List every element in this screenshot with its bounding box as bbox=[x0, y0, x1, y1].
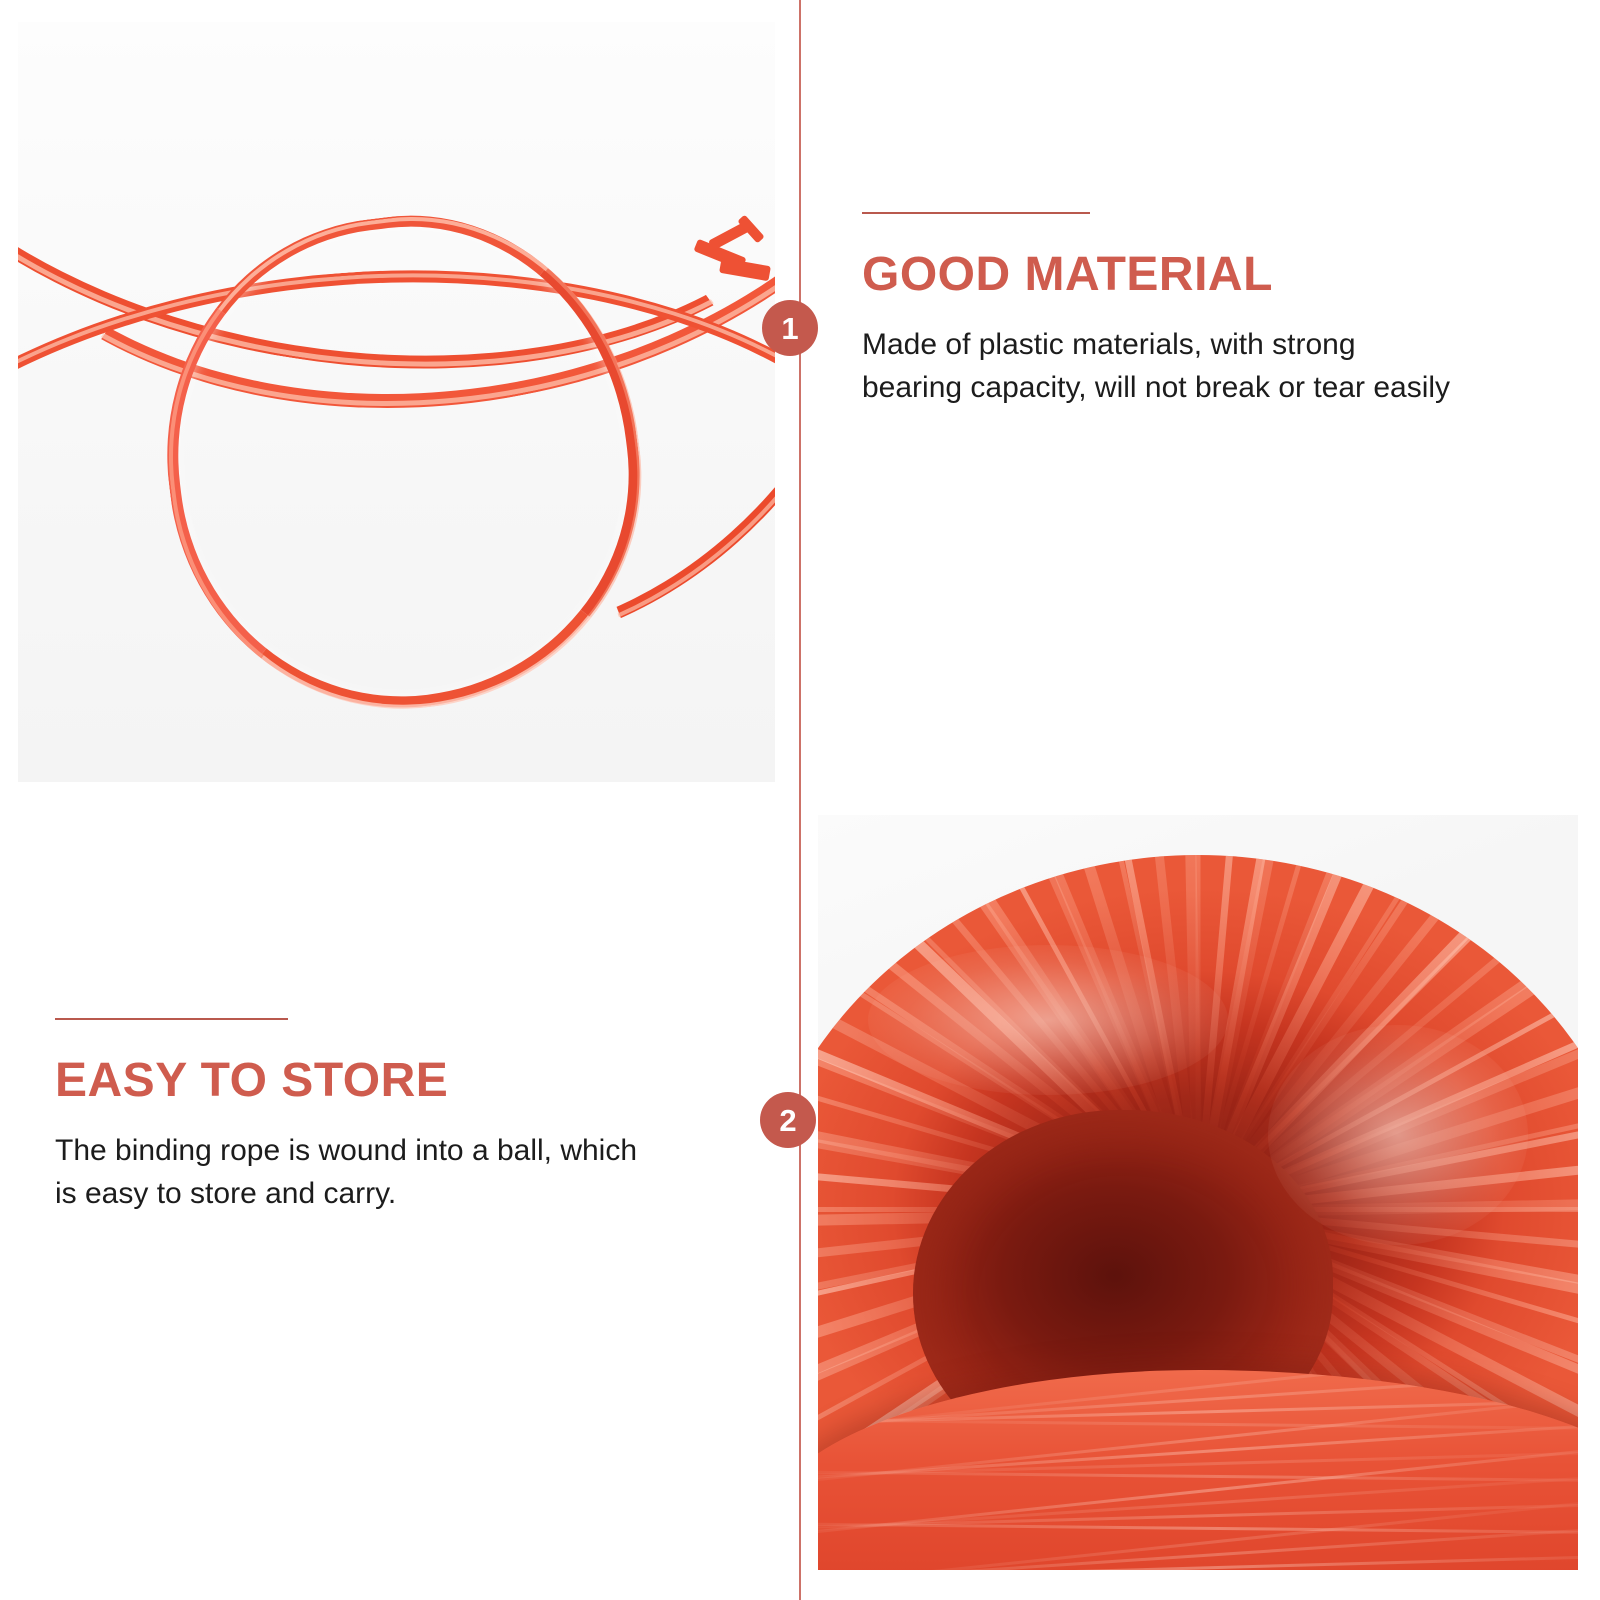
rope-frayed-end bbox=[690, 218, 775, 296]
feature-block-easy-to-store: EASY TO STORE The binding rope is wound … bbox=[55, 1018, 655, 1216]
accent-rule bbox=[862, 212, 1090, 214]
rope-strands-photo bbox=[18, 22, 775, 782]
step-badge-1: 1 bbox=[762, 300, 818, 356]
feature-title-easy-to-store: EASY TO STORE bbox=[55, 1056, 655, 1106]
rope-ball-photo bbox=[818, 815, 1578, 1570]
feature-block-good-material: GOOD MATERIAL Made of plastic materials,… bbox=[862, 212, 1462, 410]
vertical-divider bbox=[799, 0, 801, 1600]
rope-ball-body bbox=[818, 815, 1578, 1570]
step-badge-2: 2 bbox=[760, 1092, 816, 1148]
feature-description-easy-to-store: The binding rope is wound into a ball, w… bbox=[55, 1130, 655, 1215]
rope-band-line bbox=[818, 1522, 1578, 1536]
accent-rule bbox=[55, 1018, 288, 1020]
rope-band-line bbox=[818, 1470, 1578, 1484]
rope-band-line bbox=[818, 1418, 1578, 1432]
infographic-page: 1 2 GOOD MATERIAL Made of plastic materi… bbox=[0, 0, 1600, 1600]
feature-description-good-material: Made of plastic materials, with strong b… bbox=[862, 324, 1452, 409]
feature-title-good-material: GOOD MATERIAL bbox=[862, 250, 1462, 300]
